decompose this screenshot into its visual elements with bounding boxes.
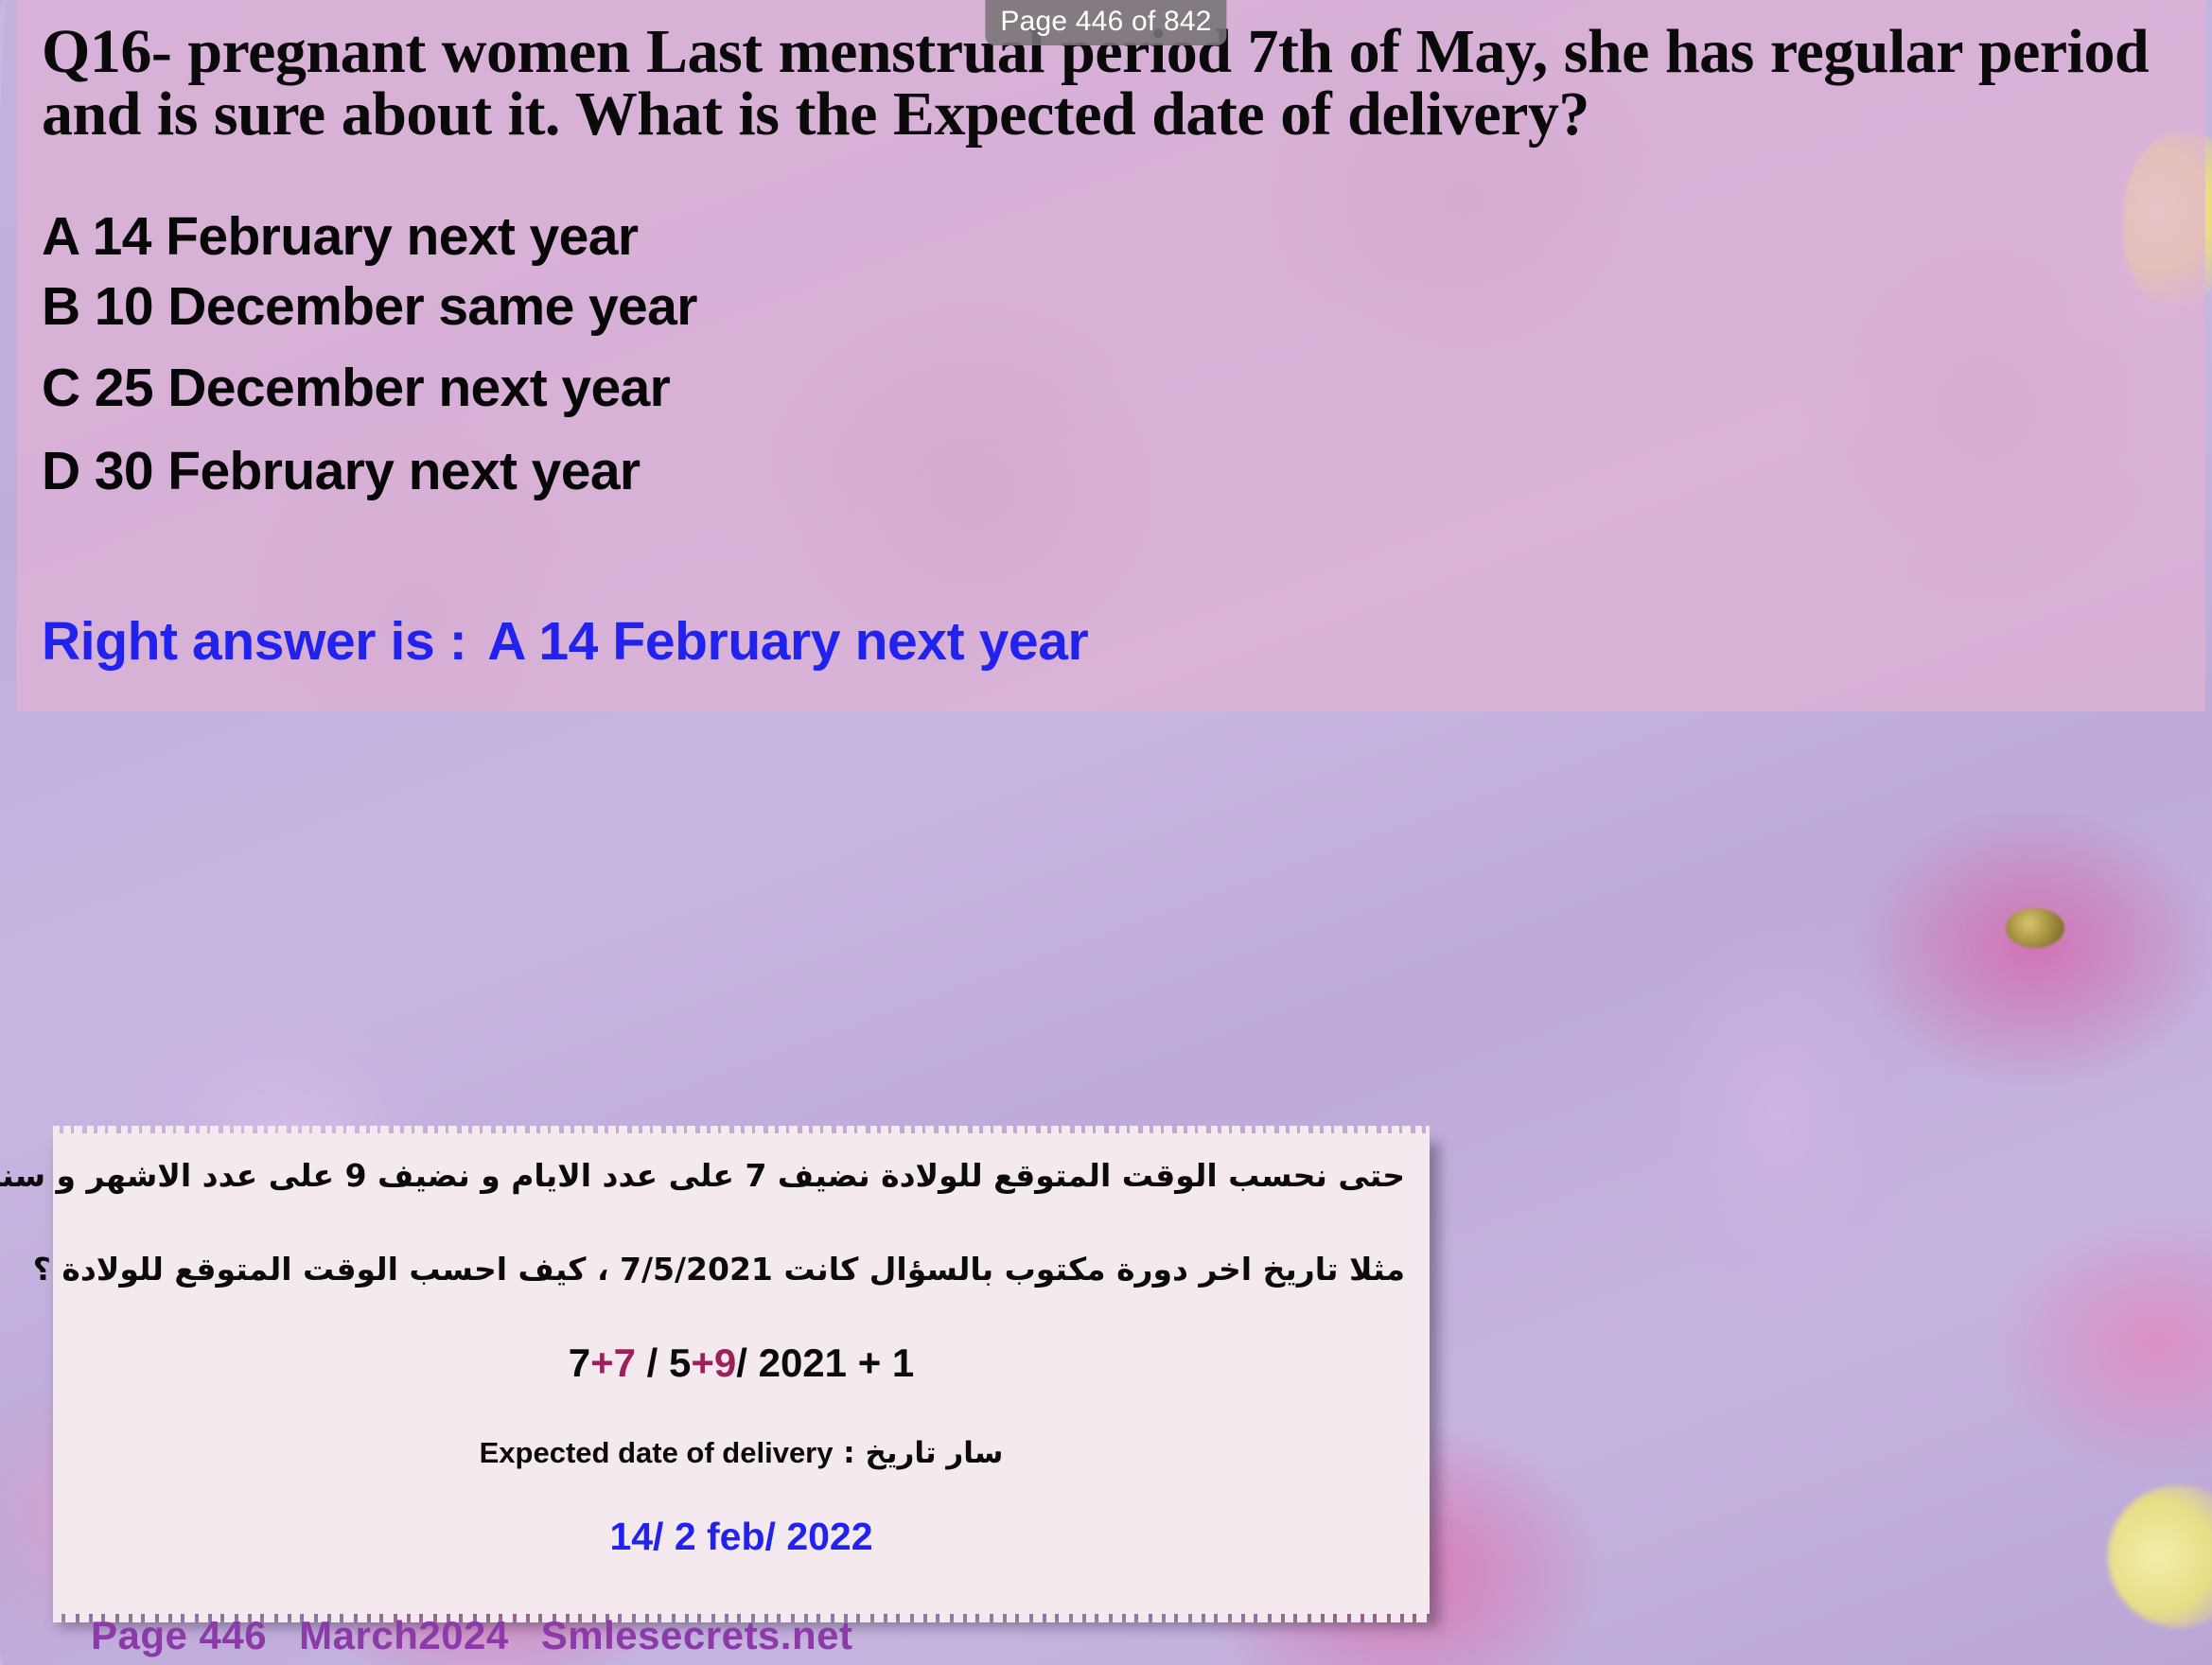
card-content: حتى نحسب الوقت المتوقع للولادة نضيف 7 عل…: [53, 1133, 1430, 1614]
right-answer-line: Right answer is :A 14 February next year: [42, 615, 1088, 669]
footer-site: Smlesecrets.net: [541, 1613, 853, 1657]
page-indicator-badge: Page 446 of 842: [985, 0, 1226, 45]
formula-plus-seven: +7: [590, 1341, 636, 1385]
right-answer-value: A 14 February next year: [487, 611, 1088, 672]
right-answer-prefix: Right answer is :: [42, 611, 466, 672]
edd-label-english: Expected date of delivery: [480, 1436, 834, 1469]
formula-part-year: / 2021 + 1: [736, 1341, 914, 1385]
daisy-center-far-right: [2006, 908, 2064, 948]
final-date-value: 14/ 2 feb/ 2022: [78, 1517, 1405, 1556]
explanation-card: حتى نحسب الوقت المتوقع للولادة نضيف 7 عل…: [53, 1133, 1430, 1614]
footer-date: March2024: [299, 1613, 509, 1657]
formula-part-months: / 5: [636, 1341, 691, 1385]
edd-label-arabic: سار تاريخ :: [843, 1436, 1003, 1470]
option-a[interactable]: A 14 February next year: [42, 210, 638, 264]
slide-root: Q16- pregnant women Last menstrual perio…: [0, 0, 2212, 1665]
explanation-line-1: حتى نحسب الوقت المتوقع للولادة نضيف 7 عل…: [78, 1160, 1405, 1191]
formula-plus-nine: +9: [691, 1341, 736, 1385]
formula-line: 7+7 / 5+9/ 2021 + 1: [78, 1343, 1405, 1383]
option-d[interactable]: D 30 February next year: [42, 445, 641, 499]
footer-page: Page 446: [91, 1613, 267, 1657]
formula-part-days: 7: [569, 1341, 590, 1385]
footer-watermark: Page 446March2024Smlesecrets.net: [91, 1616, 852, 1656]
option-c[interactable]: C 25 December next year: [42, 361, 670, 415]
question-panel: Q16- pregnant women Last menstrual perio…: [17, 0, 2205, 711]
explanation-line-2: مثلا تاريخ اخر دورة مكتوب بالسؤال كانت 7…: [78, 1253, 1405, 1285]
edd-label-line: سار تاريخ : Expected date of delivery: [78, 1438, 1405, 1468]
option-b[interactable]: B 10 December same year: [42, 280, 697, 334]
